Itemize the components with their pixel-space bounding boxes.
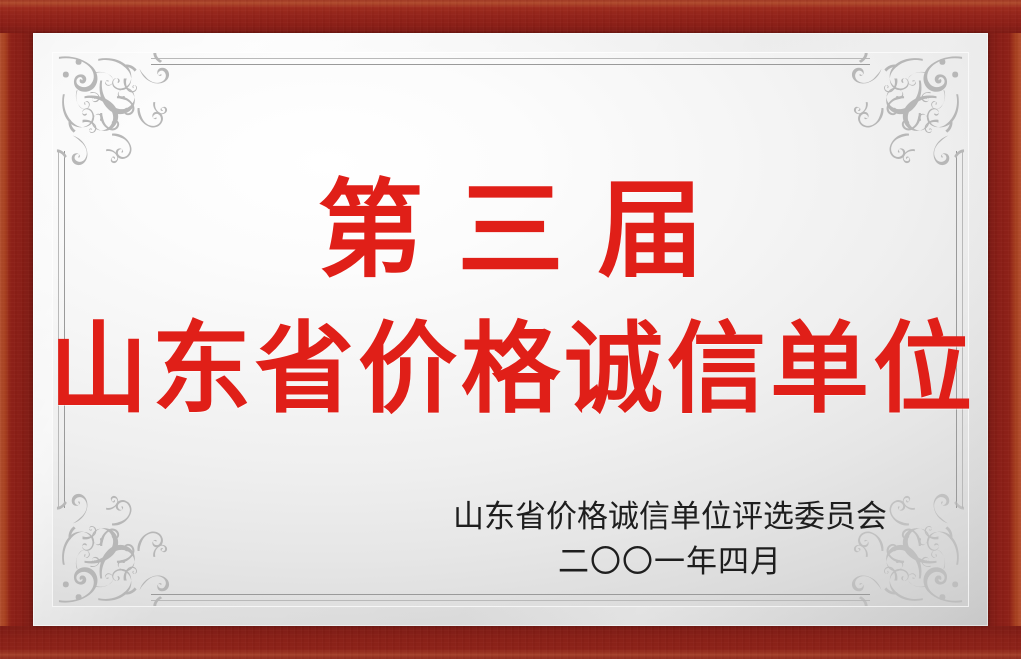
signature-block: 山东省价格诚信单位评选委员会 二〇〇一年四月 [453,498,887,582]
silver-plate: 第三届 山东省价格诚信单位 山东省价格诚信单位评选委员会 二〇〇一年四月 [33,33,988,626]
award-title-edition: 第三届 [33,173,988,287]
award-plaque: 第三届 山东省价格诚信单位 山东省价格诚信单位评选委员会 二〇〇一年四月 [0,0,1021,659]
issuing-organization: 山东省价格诚信单位评选委员会 [453,498,887,536]
award-title-main: 山东省价格诚信单位 [33,316,988,423]
plaque-content: 第三届 山东省价格诚信单位 山东省价格诚信单位评选委员会 二〇〇一年四月 [33,33,988,626]
issue-date: 二〇〇一年四月 [453,542,887,582]
